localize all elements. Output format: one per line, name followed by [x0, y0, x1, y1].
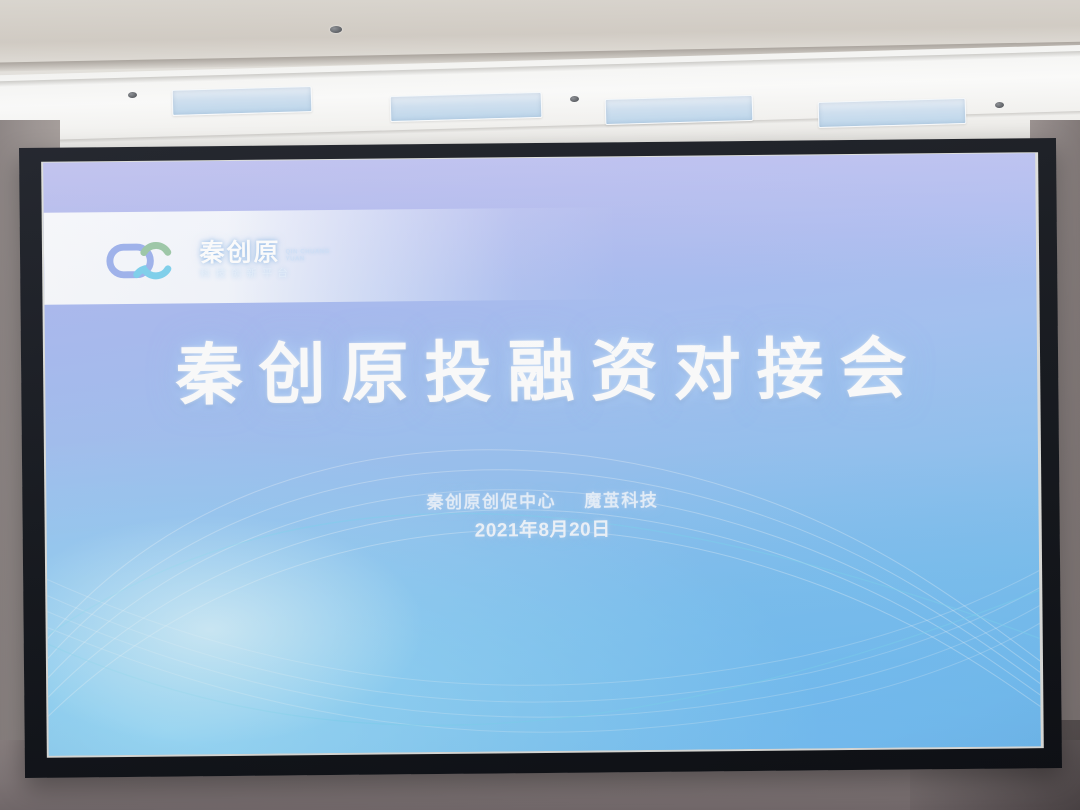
infinity-loop-icon: [95, 237, 187, 284]
brand-pinyin-line: YUAN: [286, 256, 330, 263]
slide-title: 秦创原投融资对接会: [45, 334, 1038, 411]
screen-inner-bezel: 秦创原 QIN CHUANG YUAN 科技创新平台 秦创原投融资对接会: [41, 152, 1044, 758]
brand-text: 秦创原 QIN CHUANG YUAN 科技创新平台: [199, 240, 330, 280]
brand-pinyin: QIN CHUANG YUAN: [286, 249, 330, 265]
meeting-room-photo: 秦创原 QIN CHUANG YUAN 科技创新平台 秦创原投融资对接会: [0, 0, 1080, 810]
ceiling-light-panel: [605, 95, 754, 125]
decorative-wave-lines: [45, 379, 1040, 756]
organizer-primary: 秦创原创促中心: [426, 492, 556, 512]
slide-credits: 秦创原创促中心 魔茧科技 2021年8月20日: [46, 488, 1038, 546]
brand-subtitle: 科技创新平台: [200, 268, 330, 280]
ceiling-light-panel: [390, 92, 543, 122]
brand-logo: 秦创原 QIN CHUANG YUAN 科技创新平台: [95, 220, 330, 299]
ceiling-light-panel: [172, 86, 313, 116]
ceiling-light-panel: [818, 98, 967, 128]
brand-name-cn: 秦创原: [199, 240, 280, 266]
organizer-line: 秦创原创促中心 魔茧科技: [46, 488, 1038, 516]
presentation-slide: 秦创原 QIN CHUANG YUAN 科技创新平台 秦创原投融资对接会: [43, 153, 1041, 755]
slide-date: 2021年8月20日: [47, 516, 1039, 546]
projection-screen-frame: 秦创原 QIN CHUANG YUAN 科技创新平台 秦创原投融资对接会: [19, 138, 1062, 778]
organizer-secondary: 魔茧科技: [584, 491, 658, 511]
